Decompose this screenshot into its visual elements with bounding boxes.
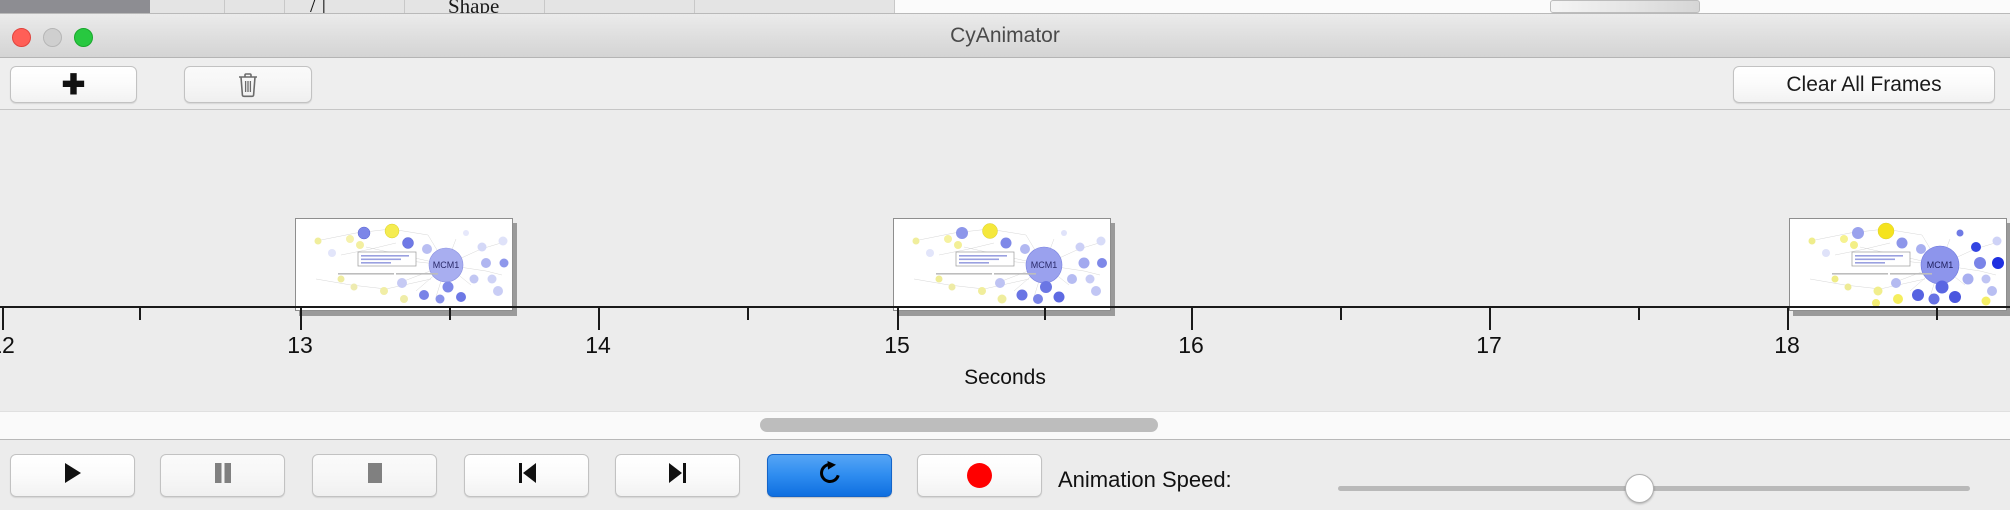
add-frame-button[interactable]: ✚ — [10, 66, 137, 103]
delete-frame-button[interactable] — [184, 66, 312, 103]
thumbnail-network-image: MCM1 — [295, 218, 513, 311]
background-tool-glyph: / | — [310, 0, 326, 14]
scrollbar-thumb[interactable] — [760, 418, 1158, 432]
background-toolbar-segment — [225, 0, 285, 13]
record-button[interactable] — [917, 454, 1042, 497]
background-toolbar-segment — [545, 0, 695, 13]
thumbnail-network-image: MCM1 — [1789, 218, 2007, 311]
background-shape-label: Shape — [448, 0, 499, 14]
axis-tick-minor — [139, 308, 141, 320]
skip-forward-icon — [667, 461, 689, 490]
window-titlebar: CyAnimator — [0, 14, 2010, 58]
playback-control-bar: Animation Speed: — [0, 439, 2010, 510]
thumbnail-network-image: MCM1 — [893, 218, 1111, 311]
axis-tick-minor — [1340, 308, 1342, 320]
background-titlebar-fragment — [0, 0, 150, 14]
trash-icon — [237, 72, 259, 98]
svg-text:MCM1: MCM1 — [433, 260, 460, 270]
skip-back-icon — [516, 461, 538, 490]
axis-tick-minor — [1044, 308, 1046, 320]
clear-all-frames-button[interactable]: Clear All Frames — [1733, 66, 1995, 103]
axis-tick-major — [1787, 308, 1789, 330]
background-window-strip: / | Shape — [0, 0, 2010, 14]
next-frame-button[interactable] — [615, 454, 740, 497]
timeline-frame-thumbnail[interactable]: MCM1 — [893, 218, 1115, 316]
axis-tick-label: 17 — [1476, 332, 1502, 359]
axis-tick-major — [1191, 308, 1193, 330]
axis-tick-minor — [1936, 308, 1938, 320]
play-icon — [63, 461, 83, 490]
axis-tick-major — [2, 308, 4, 330]
frame-toolbar: ✚ Clear All Frames — [0, 58, 2010, 110]
axis-tick-label: 12 — [0, 332, 15, 359]
axis-tick-minor — [1638, 308, 1640, 320]
background-toolbar-segment — [285, 0, 405, 13]
axis-tick-label: 13 — [287, 332, 313, 359]
timeline-frame-thumbnail[interactable]: MCM1 — [1789, 218, 2010, 316]
pause-icon — [212, 461, 234, 490]
plus-icon: ✚ — [62, 71, 85, 99]
background-toolbar-segment — [150, 0, 225, 13]
background-toolbar-segment — [695, 0, 895, 13]
svg-text:MCM1: MCM1 — [1927, 260, 1954, 270]
loop-button[interactable] — [767, 454, 892, 497]
animation-speed-slider-thumb[interactable] — [1625, 474, 1654, 503]
axis-tick-major — [598, 308, 600, 330]
axis-tick-minor — [747, 308, 749, 320]
axis-tick-label: 16 — [1178, 332, 1204, 359]
background-gradient-widget — [1550, 0, 1700, 13]
timeline-frame-thumbnail[interactable]: MCM1 — [295, 218, 517, 316]
animation-speed-slider[interactable] — [1338, 486, 1970, 491]
previous-frame-button[interactable] — [464, 454, 589, 497]
timeline-panel[interactable]: MCM1 — [0, 110, 2010, 410]
play-button[interactable] — [10, 454, 135, 497]
axis-tick-label: 18 — [1774, 332, 1800, 359]
svg-text:MCM1: MCM1 — [1031, 260, 1058, 270]
stop-button[interactable] — [312, 454, 437, 497]
axis-tick-major — [1489, 308, 1491, 330]
stop-icon — [365, 461, 385, 490]
loop-icon — [817, 460, 843, 491]
axis-tick-label: 15 — [884, 332, 910, 359]
record-icon — [967, 463, 992, 488]
axis-tick-label: 14 — [585, 332, 611, 359]
pause-button[interactable] — [160, 454, 285, 497]
timeline-horizontal-scrollbar[interactable] — [0, 411, 2010, 439]
axis-tick-major — [897, 308, 899, 330]
window-title: CyAnimator — [0, 14, 2010, 58]
axis-tick-minor — [449, 308, 451, 320]
timeline-axis-title: Seconds — [0, 366, 2010, 390]
axis-tick-major — [300, 308, 302, 330]
animation-speed-label: Animation Speed: — [1058, 467, 1232, 493]
